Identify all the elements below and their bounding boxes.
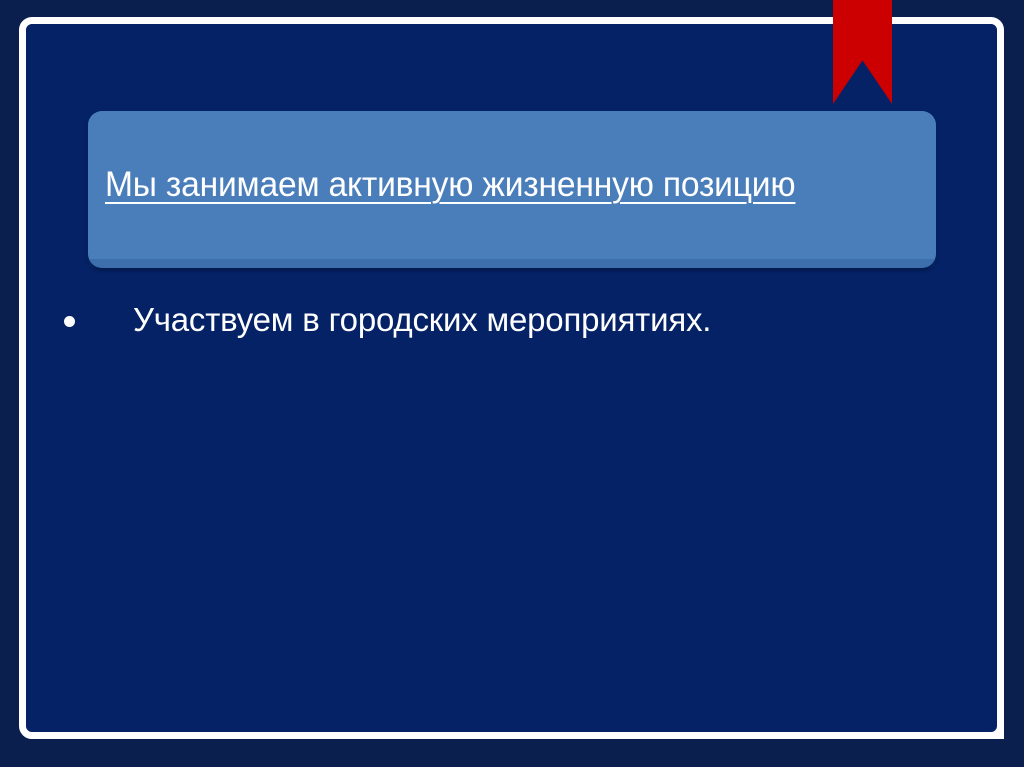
bullet-dot-icon [64,316,75,327]
bullet-list: Участвуем в городских мероприятиях. [55,297,955,343]
list-item-label: Участвуем в городских мероприятиях. [133,301,711,338]
list-item: Участвуем в городских мероприятиях. [55,297,955,343]
presentation-slide: Мы занимаем активную жизненную позицию У… [0,0,1024,767]
slide-title: Мы занимаем активную жизненную позицию [105,164,979,206]
